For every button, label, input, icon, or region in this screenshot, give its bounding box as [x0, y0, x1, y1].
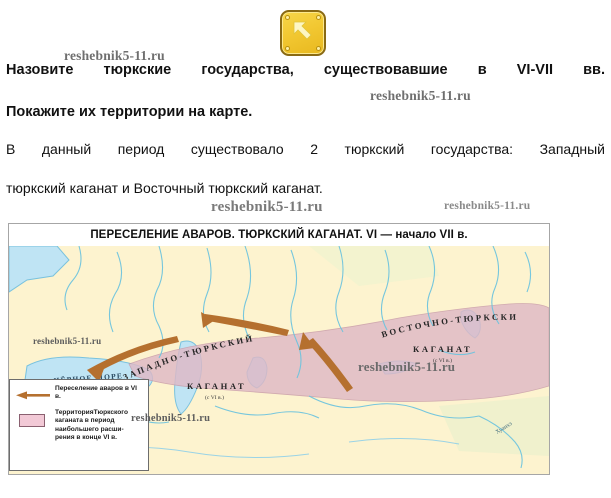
territory-color-box — [19, 414, 45, 427]
legend-arrow-swatch — [16, 385, 50, 405]
question-line-1: Назовите тюркские государства, существов… — [6, 62, 605, 78]
legend-label-migration: Переселение аваров в VI в. — [55, 385, 142, 402]
answer-line-2: тюркский каганат и Восточный тюркский ка… — [6, 180, 605, 196]
question-line-2: Покажите их территории на карте. — [6, 104, 605, 120]
legend-item-territory: ТерриторияТюркского каганата в период на… — [16, 409, 142, 443]
corner-dot-icon — [317, 47, 320, 50]
legend-color-swatch — [16, 409, 50, 427]
map-label-west-khaganate-date: (с VI в.) — [205, 394, 224, 401]
map-title: ПЕРЕСЕЛЕНИЕ АВАРОВ. ТЮРКСКИЙ КАГАНАТ. VI… — [9, 224, 549, 247]
legend-item-migration: Переселение аваров в VI в. — [16, 385, 142, 405]
watermark: reshebnik5-11.ru — [370, 88, 471, 104]
watermark: reshebnik5-11.ru — [444, 200, 530, 212]
watermark: reshebnik5-11.ru — [211, 199, 323, 216]
map-label-west-khaganate-2: КАГАНАТ — [187, 381, 246, 391]
corner-dot-icon — [317, 16, 320, 19]
corner-dot-icon — [286, 47, 289, 50]
arrow-up-left-icon — [289, 18, 317, 46]
historical-map: ПЕРЕСЕЛЕНИЕ АВАРОВ. ТЮРКСКИЙ КАГАНАТ. VI… — [8, 223, 550, 475]
back-arrow-button[interactable] — [280, 10, 326, 56]
map-label-east-khaganate-2: КАГАНАТ — [413, 344, 472, 354]
answer-line-1: В данный период существовало 2 тюркский … — [6, 141, 605, 157]
map-legend: Переселение аваров в VI в. ТерриторияТюр… — [9, 379, 149, 471]
legend-label-territory: ТерриторияТюркского каганата в период на… — [55, 409, 142, 443]
left-arrow-icon — [16, 391, 50, 400]
map-label-east-khaganate-date: (с VI в.) — [433, 357, 452, 364]
page-root: reshebnik5-11.ru Назовите тюркские госуд… — [0, 0, 611, 498]
